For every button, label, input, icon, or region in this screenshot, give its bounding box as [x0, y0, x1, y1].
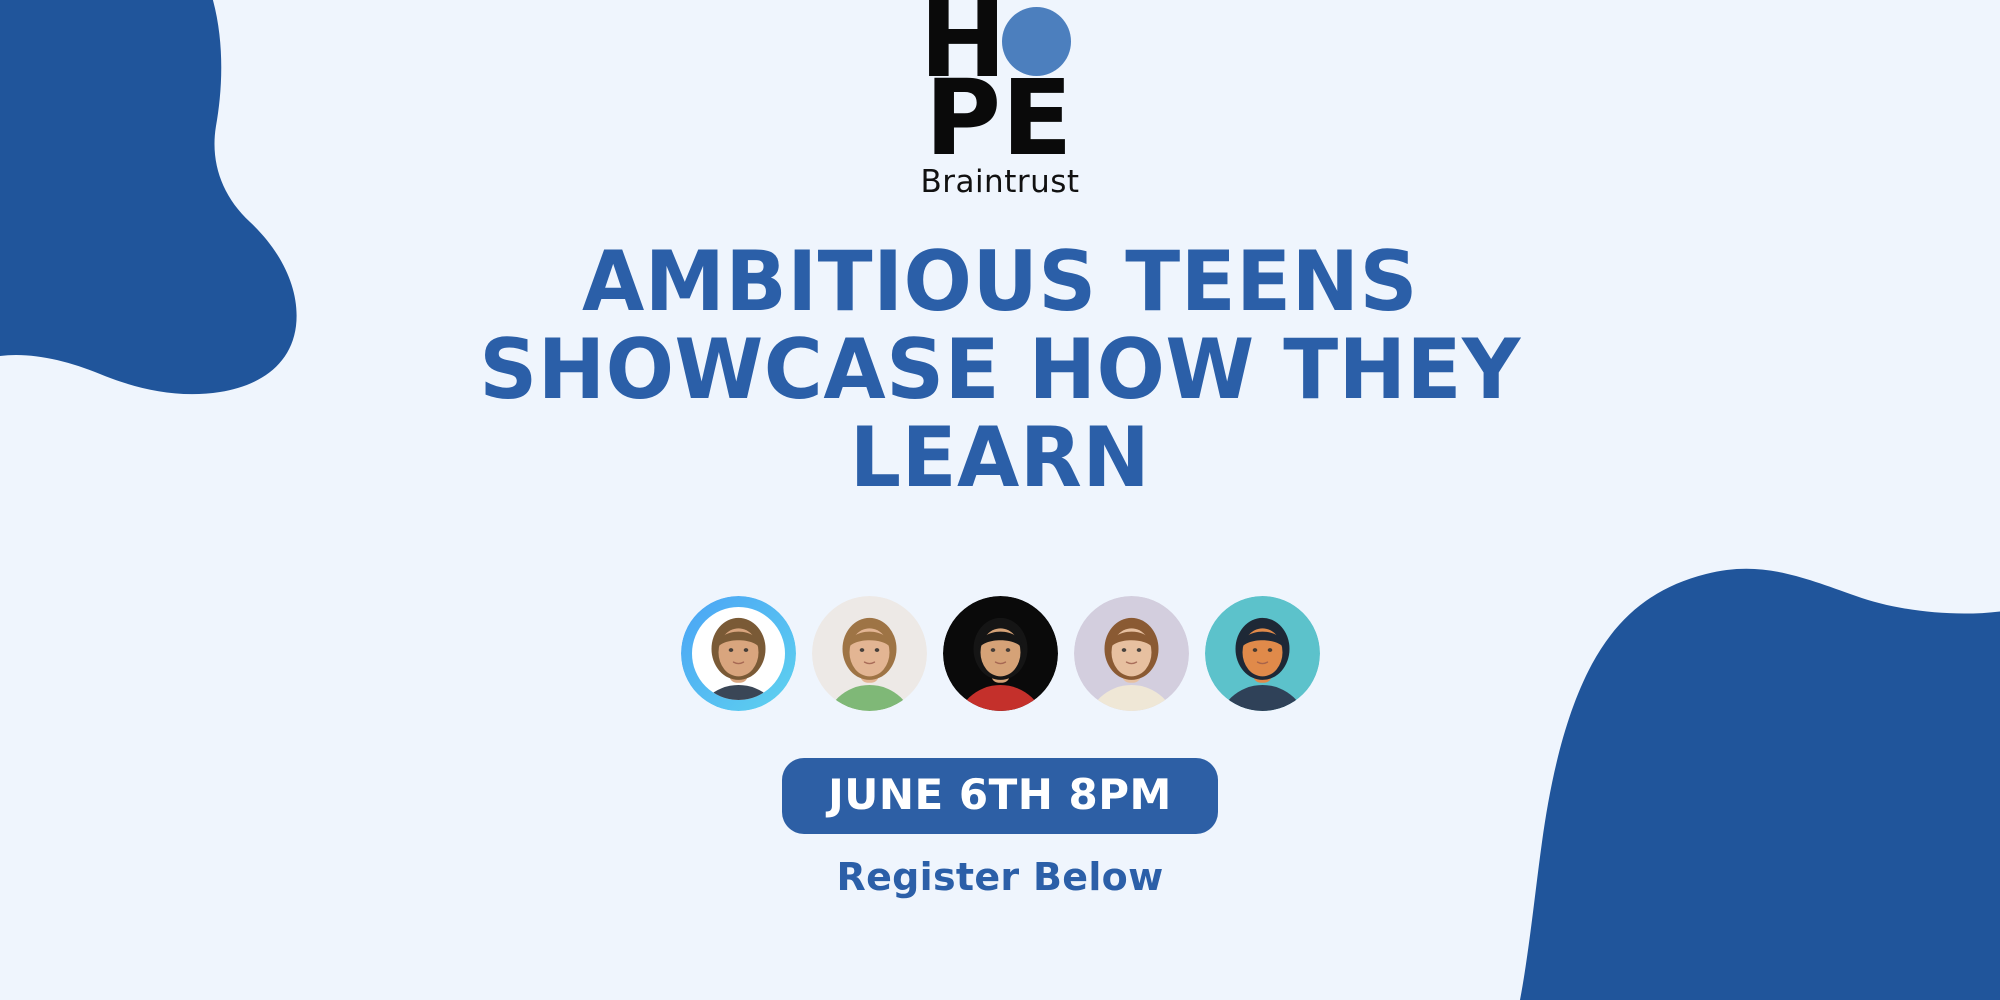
speaker-portrait [943, 596, 1058, 711]
headline: AMBITIOUS TEENS SHOWCASE HOW THEY LEARN [0, 238, 2000, 502]
logo-letter-grid: H P E [926, 2, 1074, 158]
speaker-portrait [1074, 596, 1189, 711]
date-badge-wrap: JUNE 6TH 8PM [0, 758, 2000, 834]
speaker-portrait [1205, 596, 1320, 711]
logo-wordmark: Braintrust [920, 164, 1079, 200]
speaker-portrait-row [0, 596, 2000, 711]
speaker-portrait [681, 596, 796, 711]
event-banner: H P E Braintrust AMBITIOUS TEENS SHOWCAS… [0, 0, 2000, 1000]
headline-line-2: SHOWCASE HOW THEY [30, 326, 1970, 414]
event-date-badge: JUNE 6TH 8PM [782, 758, 1218, 834]
hope-braintrust-logo: H P E Braintrust [0, 0, 2000, 195]
headline-line-1: AMBITIOUS TEENS [30, 238, 1970, 326]
speaker-portrait [812, 596, 927, 711]
logo-letter-e: E [1001, 76, 1070, 161]
register-below-text: Register Below [0, 855, 2000, 899]
logo-letter-p: P [925, 76, 999, 161]
headline-line-3: LEARN [30, 414, 1970, 502]
